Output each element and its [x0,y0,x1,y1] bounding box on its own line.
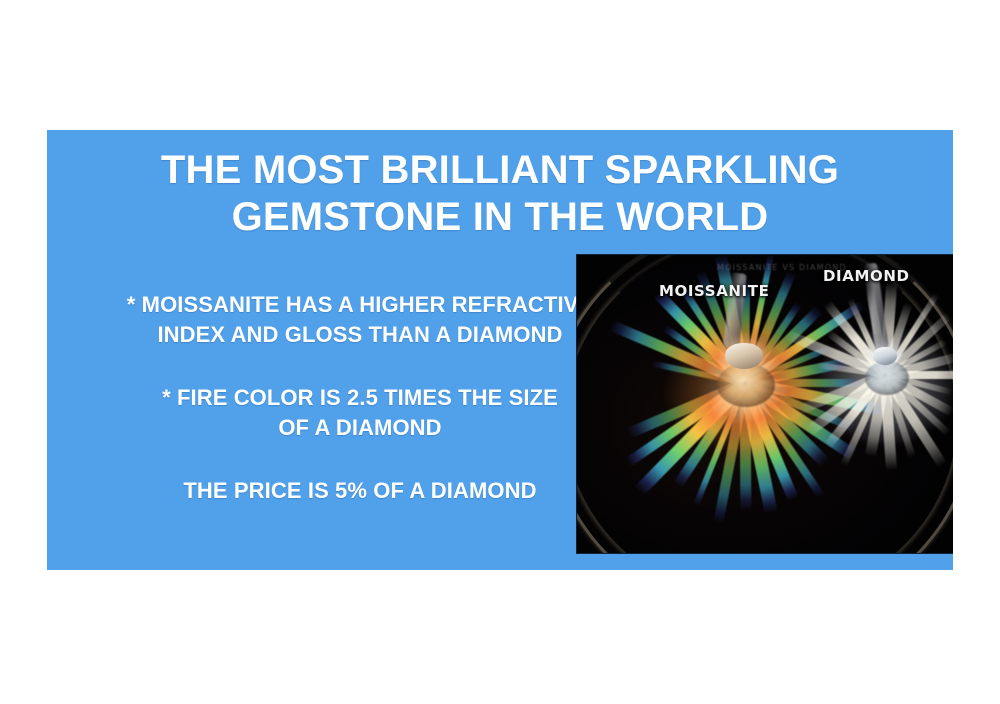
bullet-3-line-1: THE PRICE IS 5% OF A DIAMOND [60,476,660,506]
bullet-1-line-1: * MOISSANITE HAS A HIGHER REFRACTIVE [60,290,660,320]
page-title: THE MOST BRILLIANT SPARKLING GEMSTONE IN… [47,147,953,241]
bullet-2-line-1: * FIRE COLOR IS 2.5 TIMES THE SIZE [60,383,660,413]
bullet-list: * MOISSANITE HAS A HIGHER REFRACTIVE IND… [60,290,660,506]
slide-panel: THE MOST BRILLIANT SPARKLING GEMSTONE IN… [47,130,953,570]
bullet-1-line-2: INDEX AND GLOSS THAN A DIAMOND [60,320,660,350]
moissanite-pavilion [717,363,775,407]
photo-label-moissanite: MOISSANITE [659,282,769,300]
bullet-item: THE PRICE IS 5% OF A DIAMOND [60,476,660,506]
moissanite-stone [725,343,763,369]
bullet-item: * FIRE COLOR IS 2.5 TIMES THE SIZE OF A … [60,383,660,443]
bullet-2-line-2: OF A DIAMOND [60,413,660,443]
title-line-2: GEMSTONE IN THE WORLD [47,194,953,241]
bullet-item: * MOISSANITE HAS A HIGHER REFRACTIVE IND… [60,290,660,350]
photo-label-diamond: DIAMOND [823,267,910,285]
gemstone-comparison-photo: MOISSANITE VS DIAMOND MOISSANITE DIAMOND [577,255,953,553]
title-line-1: THE MOST BRILLIANT SPARKLING [47,147,953,194]
diamond-pavilion [865,361,909,395]
diamond-stone [873,347,897,365]
slide-root: THE MOST BRILLIANT SPARKLING GEMSTONE IN… [0,0,1000,704]
